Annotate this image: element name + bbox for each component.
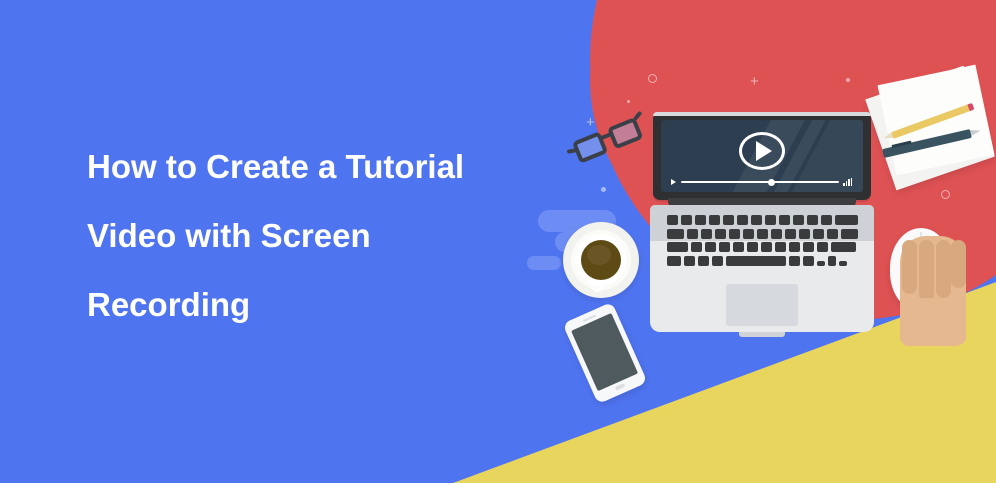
page-title-line-3: Recording: [87, 270, 557, 339]
laptop-front-notch: [739, 332, 785, 337]
seek-handle[interactable]: [768, 179, 775, 186]
keyboard-row: [667, 229, 857, 239]
glasses-temple-right: [633, 111, 642, 121]
wrist: [902, 298, 962, 346]
seek-track[interactable]: [681, 181, 839, 183]
finger: [919, 240, 934, 302]
mini-play-icon[interactable]: [671, 179, 676, 185]
finger: [951, 240, 966, 288]
laptop-trackpad[interactable]: [726, 284, 798, 326]
tutorial-video-banner: + + + How to Create a Tutorial Video wit…: [0, 0, 996, 483]
spark-ring-icon: [648, 74, 657, 83]
finger: [936, 240, 951, 298]
laptop-keyboard: [667, 215, 857, 266]
laptop-screen: [661, 120, 863, 192]
glasses-lens-right: [607, 117, 643, 150]
page-title-line-2: Video with Screen: [87, 201, 557, 270]
keyboard-row: [667, 242, 857, 252]
spark-dot-icon: [627, 100, 630, 103]
page-title-line-1: How to Create a Tutorial: [87, 132, 557, 201]
video-seek-bar[interactable]: [671, 178, 853, 186]
volume-icon[interactable]: [843, 178, 853, 186]
coffee-liquid: [581, 240, 621, 280]
coffee-cup-icon: [563, 222, 639, 298]
spark-dot-icon: [846, 78, 850, 82]
keyboard-row: [667, 215, 857, 225]
mouse-and-hand-group: [882, 228, 994, 346]
play-triangle-icon[interactable]: [756, 141, 772, 161]
laptop-lid-top-edge: [653, 112, 871, 116]
page-title: How to Create a Tutorial Video with Scre…: [87, 132, 557, 339]
keyboard-row: [667, 256, 857, 266]
paper-pencil-pen-group: [876, 70, 996, 200]
finger: [902, 240, 917, 294]
laptop-illustration: [650, 112, 874, 347]
spark-plus-icon: +: [750, 74, 759, 89]
spark-dot-icon: [601, 187, 606, 192]
